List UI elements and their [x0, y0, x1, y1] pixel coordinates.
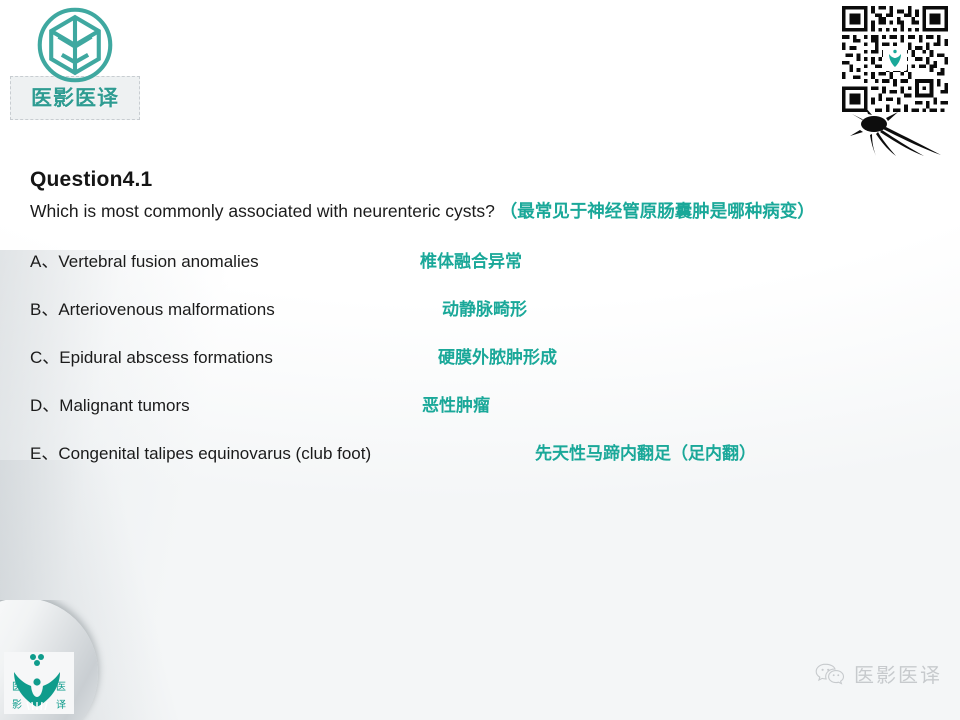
brand-watermark-icon: 医 医 影 译 [4, 652, 74, 714]
option-c-english: C、Epidural abscess formations [30, 343, 438, 368]
question-number: Question4.1 [30, 168, 930, 192]
option-a-chinese: 椎体融合异常 [420, 247, 522, 272]
option-b-chinese: 动静脉畸形 [442, 295, 527, 320]
question-content: Question4.1 Which is most commonly assoc… [30, 168, 930, 487]
option-b[interactable]: B、Arteriovenous malformations 动静脉畸形 [30, 295, 930, 320]
brand-mark-icon [883, 47, 907, 71]
question-stem-en: Which is most commonly associated with n… [30, 201, 495, 221]
hexagon-cube-circle-logo-icon [34, 4, 116, 86]
answer-options: A、Vertebral fusion anomalies 椎体融合异常 B、Ar… [30, 247, 930, 464]
ink-splatter-icon [846, 110, 946, 158]
svg-text:医: 医 [12, 681, 22, 693]
brand-name-box: 医影医译 [10, 76, 140, 120]
qr-code[interactable] [842, 6, 948, 112]
question-stem: Which is most commonly associated with n… [30, 199, 930, 225]
option-e-english: E、Congenital talipes equinovarus (club f… [30, 439, 535, 464]
option-c[interactable]: C、Epidural abscess formations 硬膜外脓肿形成 [30, 343, 930, 368]
brand-name: 医影医译 [17, 82, 133, 112]
option-c-chinese: 硬膜外脓肿形成 [438, 343, 557, 368]
brand-mark-glyph-icon [883, 6, 907, 112]
wechat-icon [815, 662, 845, 686]
option-a-english: A、Vertebral fusion anomalies [30, 247, 420, 272]
wechat-footer: 医影医译 [815, 659, 942, 688]
option-d-chinese: 恶性肿瘤 [422, 391, 490, 416]
option-e[interactable]: E、Congenital talipes equinovarus (club f… [30, 439, 930, 464]
question-stem-cn: （最常见于神经管原肠囊肿是哪种病变） [500, 202, 815, 222]
svg-text:译: 译 [56, 699, 66, 711]
brand-logo: 医影医译 [10, 4, 140, 120]
svg-text:影: 影 [12, 699, 22, 711]
option-d[interactable]: D、Malignant tumors 恶性肿瘤 [30, 391, 930, 416]
option-e-chinese: 先天性马蹄内翻足（足内翻） [535, 439, 756, 464]
svg-text:医: 医 [56, 681, 66, 693]
option-b-english: B、Arteriovenous malformations [30, 295, 442, 320]
wechat-label: 医影医译 [854, 659, 942, 688]
option-a[interactable]: A、Vertebral fusion anomalies 椎体融合异常 [30, 247, 930, 272]
option-d-english: D、Malignant tumors [30, 391, 422, 416]
